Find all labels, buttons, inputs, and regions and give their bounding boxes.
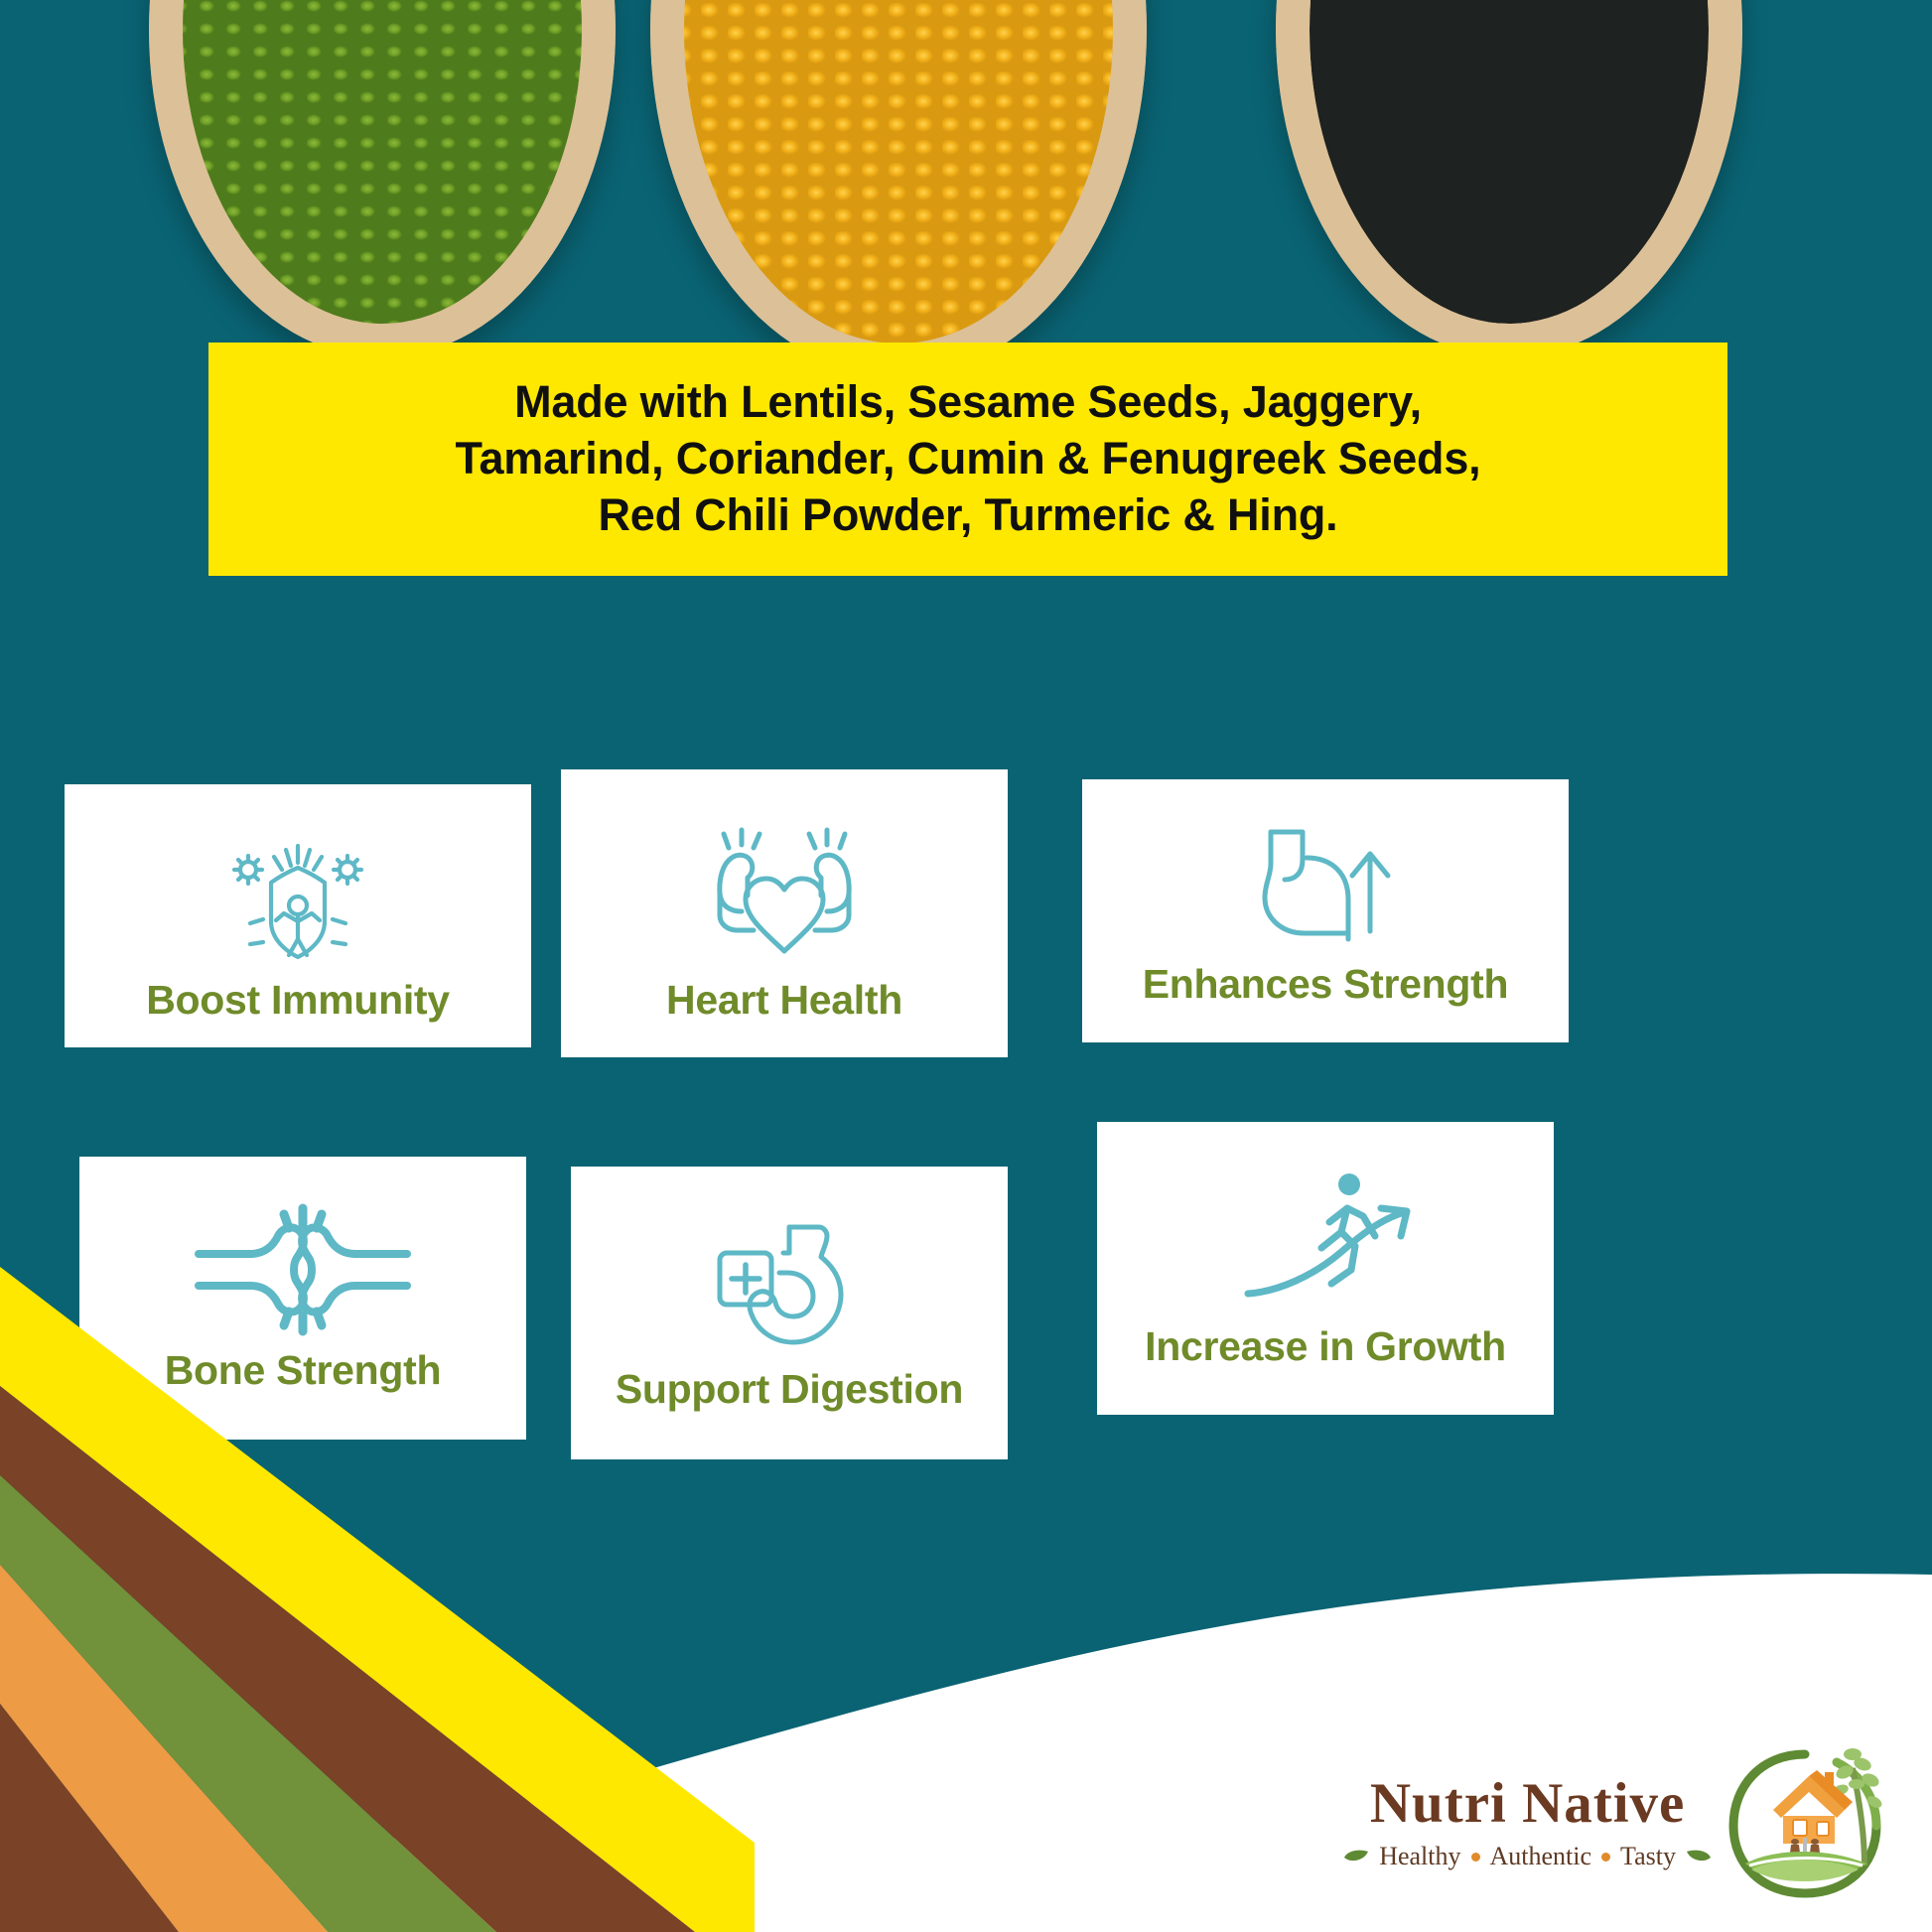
brand-logo-text: Nutri Native Healthy Authentic Tasty (1343, 1775, 1712, 1871)
benefit-label-enhances-strength: Enhances Strength (1143, 961, 1509, 1008)
ingredient-line-1: Made with Lentils, Sesame Seeds, Jaggery… (514, 374, 1422, 431)
flex-arm-up-arrow-icon (1241, 814, 1410, 953)
black-lentils-bowl (1276, 0, 1742, 357)
leaf-icon (1686, 1849, 1712, 1864)
heart-flex-arms-icon (680, 822, 889, 969)
benefit-label-increase-in-growth: Increase in Growth (1145, 1323, 1506, 1370)
benefit-label-heart-health: Heart Health (666, 977, 902, 1024)
corner-stripe-ribbon (0, 1237, 755, 1932)
tagline-dot (1601, 1853, 1610, 1862)
brand-tagline: Healthy Authentic Tasty (1343, 1842, 1712, 1871)
brand-name: Nutri Native (1370, 1775, 1686, 1832)
benefit-label-boost-immunity: Boost Immunity (146, 977, 450, 1024)
tagline-dot (1471, 1853, 1480, 1862)
yellow-lentils-bowl (650, 0, 1147, 357)
brand-logo: Nutri Native Healthy Authentic Tasty (1343, 1746, 1884, 1900)
running-person-arrow-icon (1226, 1167, 1425, 1315)
benefit-card-enhances-strength[interactable]: Enhances Strength (1082, 779, 1569, 1042)
benefit-card-heart-health[interactable]: Heart Health (561, 769, 1008, 1057)
hero-bowls-strip (0, 0, 1932, 357)
benefit-card-boost-immunity[interactable]: Boost Immunity (65, 784, 531, 1047)
shield-person-germs-icon (214, 830, 381, 969)
tagline-tasty: Tasty (1620, 1842, 1676, 1871)
green-lentils-bowl (149, 0, 616, 357)
leaf-icon (1343, 1849, 1369, 1864)
benefit-card-increase-in-growth[interactable]: Increase in Growth (1097, 1122, 1554, 1415)
tagline-healthy: Healthy (1379, 1842, 1460, 1871)
ingredient-banner: Made with Lentils, Sesame Seeds, Jaggery… (208, 343, 1727, 576)
ingredient-banner-text: Made with Lentils, Sesame Seeds, Jaggery… (208, 343, 1727, 576)
ingredient-line-3: Red Chili Powder, Turmeric & Hing. (599, 487, 1338, 544)
house-tree-field-circle-icon (1725, 1746, 1884, 1900)
tagline-authentic: Authentic (1490, 1842, 1592, 1871)
ingredient-line-2: Tamarind, Coriander, Cumin & Fenugreek S… (456, 431, 1481, 487)
